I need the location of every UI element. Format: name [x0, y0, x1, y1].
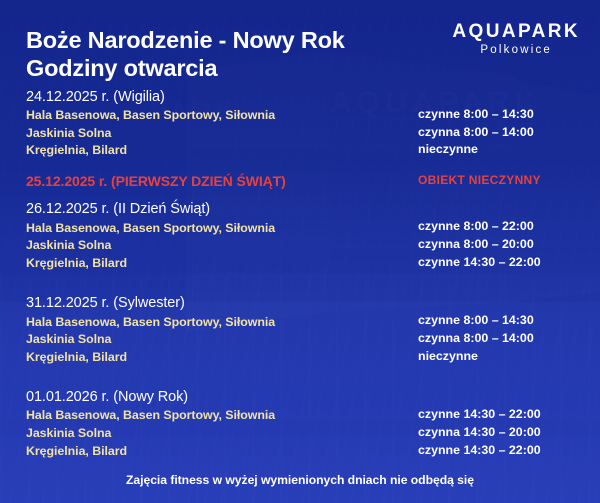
hours-column: czynne 8:00 – 14:30 czynna 8:00 – 14:00 …	[418, 106, 534, 159]
hours-line: czynne 8:00 – 14:30	[418, 106, 534, 124]
hours-line: czynne 14:30 – 22:00	[418, 406, 541, 424]
page-title: Boże Narodzenie - Nowy Rok Godziny otwar…	[26, 27, 345, 82]
schedule-date: 26.12.2025 r. (II Dzień Świąt)	[26, 200, 600, 219]
status-badge: OBIEKT NIECZYNNY	[418, 172, 541, 189]
hours-column: czynne 8:00 – 14:30 czynna 8:00 – 14:00 …	[418, 312, 534, 365]
hours-line: czynne 8:00 – 22:00	[418, 218, 541, 236]
hours-line: czynne 8:00 – 14:30	[418, 312, 534, 330]
hours-line: czynna 8:00 – 14:00	[418, 330, 534, 348]
hours-line: nieczynne	[418, 348, 534, 366]
hours-line: czynne 14:30 – 22:00	[418, 254, 541, 272]
hours-column: OBIEKT NIECZYNNY	[418, 172, 541, 189]
hours-line: czynna 14:30 – 20:00	[418, 424, 541, 442]
hours-column: czynne 14:30 – 22:00 czynna 14:30 – 20:0…	[418, 406, 541, 459]
poster-content: AQUAPARK Polkowice Boże Narodzenie - Now…	[0, 0, 600, 503]
logo-brand-text: AQUAPARK	[452, 22, 580, 41]
hours-line: nieczynne	[418, 141, 534, 159]
schedule-block: 24.12.2025 r. (Wigilia) Hala Basenowa, B…	[26, 88, 600, 160]
hours-column: czynne 8:00 – 22:00 czynna 8:00 – 20:00 …	[418, 218, 541, 271]
schedule-date: 24.12.2025 r. (Wigilia)	[26, 88, 600, 107]
opening-hours-poster: PARK AQUAPARK AQUAPARK Polkowice Boże Na…	[0, 0, 600, 503]
schedule-block: 01.01.2026 r. (Nowy Rok) Hala Basenowa, …	[26, 388, 600, 460]
schedule-date: 31.12.2025 r. (Sylwester)	[26, 294, 600, 313]
hours-line: czynne 14:30 – 22:00	[418, 442, 541, 460]
logo-city-text: Polkowice	[452, 45, 580, 57]
hours-line: czynna 8:00 – 14:00	[418, 124, 534, 142]
hours-line: czynna 8:00 – 20:00	[418, 236, 541, 254]
schedule-list: 24.12.2025 r. (Wigilia) Hala Basenowa, B…	[26, 88, 600, 472]
schedule-block: 26.12.2025 r. (II Dzień Świąt) Hala Base…	[26, 200, 600, 272]
footer-note: Zajęcia fitness w wyżej wymienionych dni…	[0, 473, 600, 487]
schedule-block: 31.12.2025 r. (Sylwester) Hala Basenowa,…	[26, 294, 600, 366]
schedule-date: 01.01.2026 r. (Nowy Rok)	[26, 388, 600, 407]
schedule-block-closed: 25.12.2025 r. (PIERWSZY DZIEŃ ŚWIĄT) OBI…	[26, 172, 600, 190]
aquapark-logo: AQUAPARK Polkowice	[452, 22, 580, 57]
